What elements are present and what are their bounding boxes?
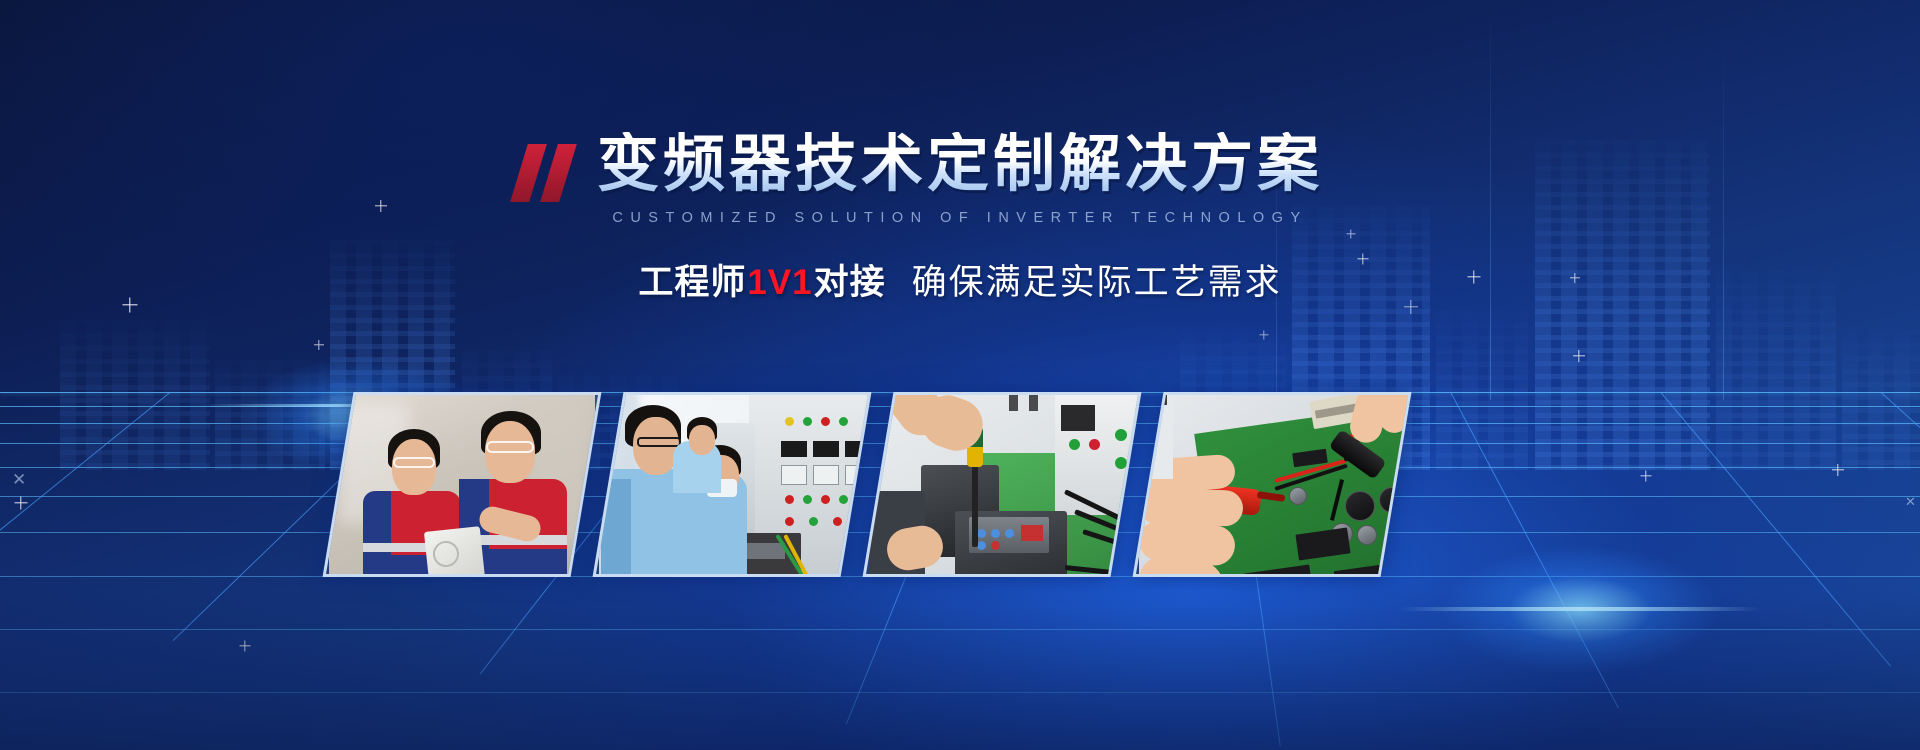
tagline-part2: 对接	[814, 263, 886, 302]
sparkle-icon	[14, 496, 27, 509]
tagline: 工程师1V1对接确保满足实际工艺需求	[0, 254, 1920, 305]
title-row: 变频器技术定制解决方案	[597, 132, 1323, 199]
photo-hand-assembling-inverter[interactable]	[863, 392, 1142, 577]
tagline-part3: 确保满足实际工艺需求	[912, 263, 1282, 302]
sparkle-icon	[1640, 470, 1651, 481]
double-slash-quote-icon	[519, 144, 581, 202]
banner-text-block: 变频器技术定制解决方案 CUSTOMIZED SOLUTION OF INVER…	[0, 132, 1920, 305]
subtitle-english: CUSTOMIZED SOLUTION OF INVERTER TECHNOLO…	[0, 210, 1920, 226]
tagline-part1: 工程师	[638, 263, 746, 302]
photo-pcb-multimeter-testing[interactable]	[1133, 392, 1412, 577]
photo-strip	[300, 392, 1620, 577]
x-sparkle-icon: ✕	[1905, 495, 1916, 508]
hero-banner: ✕ ✕ 变频器技术定制解决方案 CUSTOMIZED SOLUTION OF I…	[0, 0, 1920, 750]
photo-engineers-inspecting-inverter[interactable]	[323, 392, 602, 577]
photo-technicians-at-control-panel[interactable]	[593, 392, 872, 577]
sparkle-icon	[1832, 464, 1844, 476]
bottom-vignette	[0, 590, 1920, 750]
page-title: 变频器技术定制解决方案	[597, 132, 1323, 199]
sparkle-icon	[1573, 350, 1585, 362]
tagline-highlight: 1V1	[746, 263, 813, 302]
sparkle-icon	[314, 340, 324, 350]
x-sparkle-icon: ✕	[12, 471, 26, 488]
sparkle-icon	[1259, 330, 1268, 339]
